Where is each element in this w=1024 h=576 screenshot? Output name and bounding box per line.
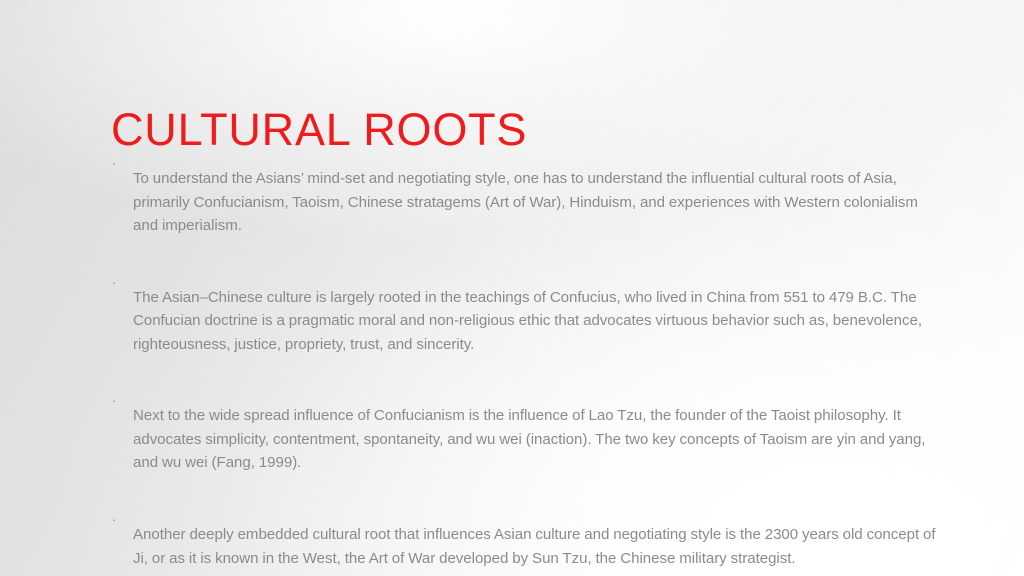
bullet-list-item: · Another deeply embedded cultural root … — [109, 508, 937, 576]
presentation-slide: Cultural Roots · To understand the Asian… — [0, 0, 1024, 576]
bullet-list-item: · Next to the wide spread influence of C… — [109, 389, 937, 490]
bullet-item-text: To understand the Asians’ mind-set and n… — [133, 167, 937, 238]
slide-body-content: · To understand the Asians’ mind-set and… — [109, 152, 937, 576]
bullet-item-text: Another deeply embedded cultural root th… — [133, 523, 937, 570]
bullet-item-text: Next to the wide spread influence of Con… — [133, 404, 937, 475]
bullet-item-text: The Asian–Chinese culture is largely roo… — [133, 286, 937, 357]
bullet-point-icon: · — [109, 152, 133, 176]
bullet-list-item: · The Asian–Chinese culture is largely r… — [109, 271, 937, 372]
slide-title: Cultural Roots — [111, 102, 931, 158]
bullet-point-icon: · — [109, 271, 133, 295]
bullet-point-icon: · — [109, 508, 133, 532]
bullet-point-icon: · — [109, 389, 133, 413]
bullet-list-item: · To understand the Asians’ mind-set and… — [109, 152, 937, 253]
